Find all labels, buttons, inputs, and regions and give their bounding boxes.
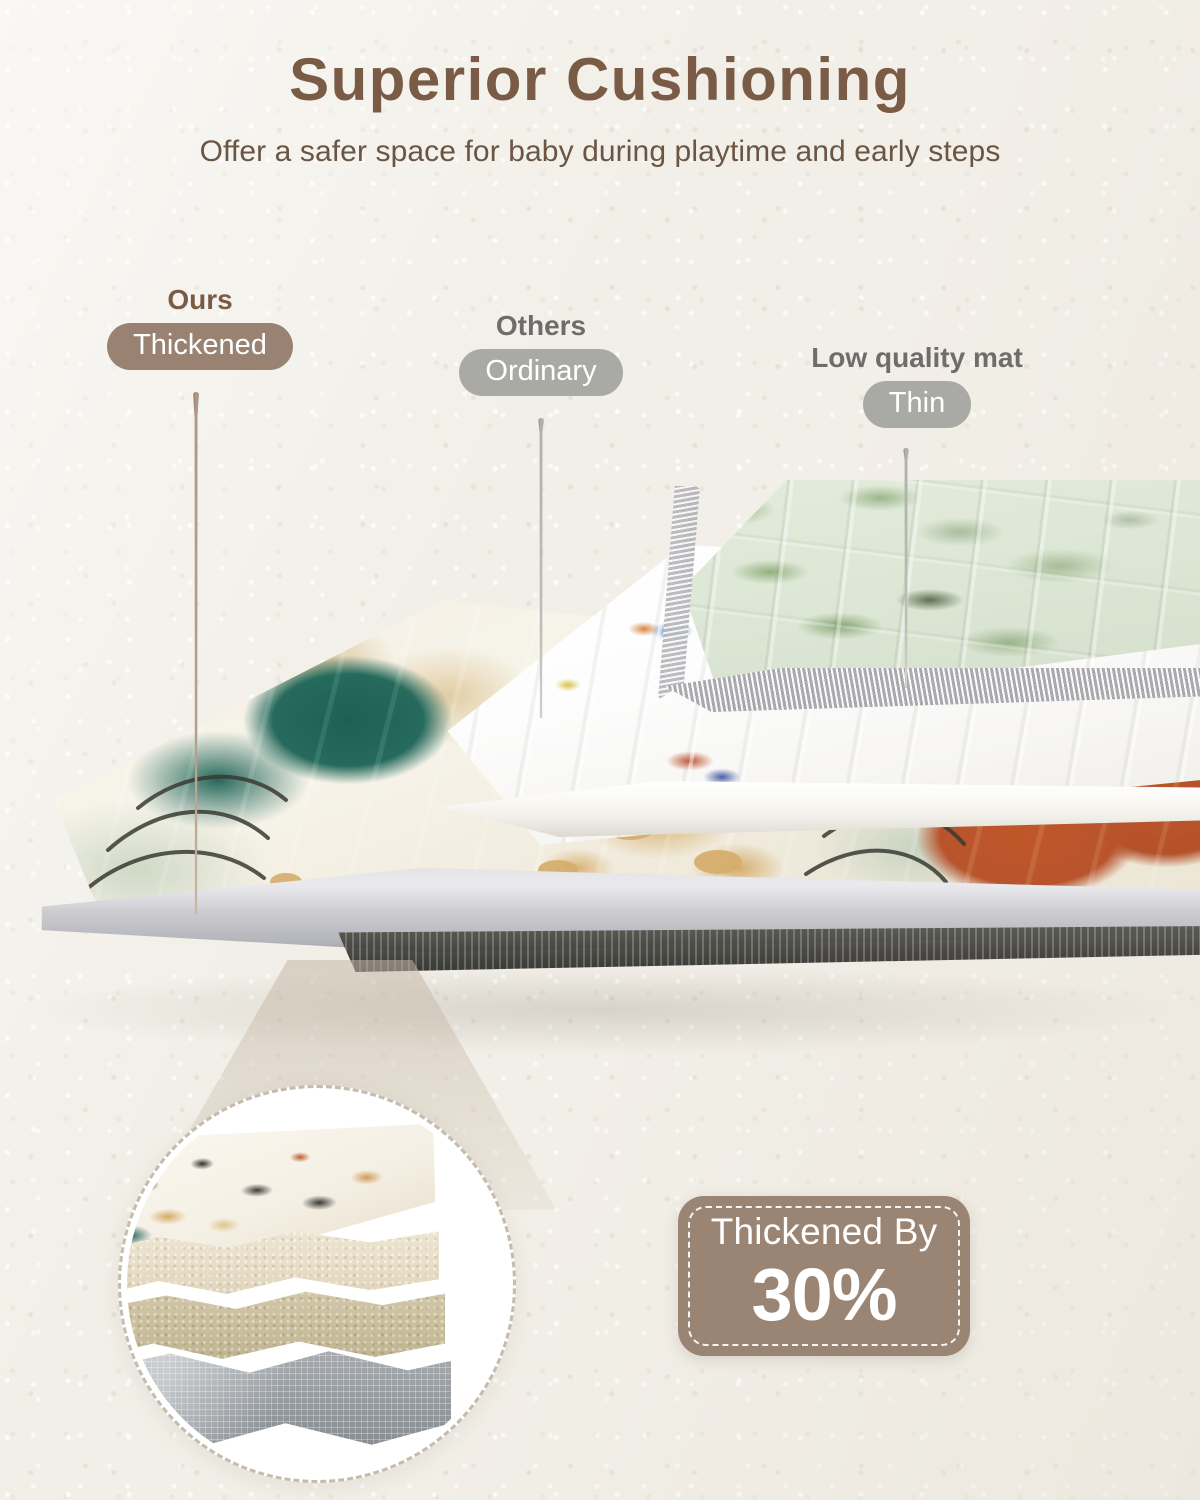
- mat-low-quality-thin: [630, 480, 1200, 760]
- callout-ours-badge: Thickened: [107, 323, 293, 370]
- page-title: Superior Cushioning: [0, 48, 1200, 113]
- nonslip-backing-shine: [127, 1344, 451, 1464]
- mat-ours-nonslip-backing: [338, 926, 1200, 972]
- callout-ours: Ours Thickened: [44, 286, 356, 370]
- callout-others-badge: Ordinary: [459, 349, 622, 396]
- callout-others-caption: Others: [385, 312, 697, 340]
- header-block: Superior Cushioning Offer a safer space …: [0, 48, 1200, 169]
- callout-others: Others Ordinary: [385, 312, 697, 396]
- page-subtitle: Offer a safer space for baby during play…: [0, 135, 1200, 169]
- product-infographic: Superior Cushioning Offer a safer space …: [0, 0, 1200, 1500]
- badge-line-1: Thickened By: [678, 1213, 970, 1250]
- badge-line-2: 30%: [678, 1258, 970, 1332]
- callout-low-quality-badge: Thin: [863, 381, 971, 428]
- thickened-by-badge: Thickened By 30%: [678, 1196, 970, 1356]
- callout-ours-caption: Ours: [44, 286, 356, 314]
- layer-detail-inset: [118, 1085, 516, 1483]
- callout-low-quality: Low quality mat Thin: [745, 344, 1089, 428]
- layer-detail-inner: [127, 1094, 507, 1474]
- callout-low-quality-caption: Low quality mat: [745, 344, 1089, 372]
